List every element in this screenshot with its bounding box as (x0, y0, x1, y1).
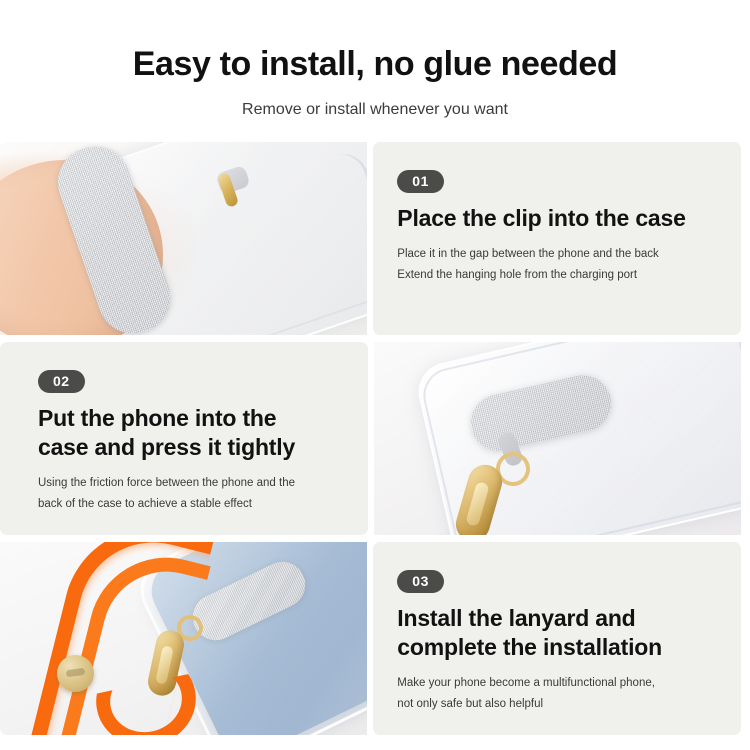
step-1-text-panel: 01 Place the clip into the case Place it… (373, 142, 741, 335)
step-1-description: Place it in the gap between the phone an… (397, 244, 719, 287)
step-2-photo (374, 342, 741, 535)
step-2-title-line-1: Put the phone into the (38, 404, 346, 433)
photo-hand-holding-clip (0, 142, 367, 335)
step-2-text-panel: 02 Put the phone into the case and press… (0, 342, 368, 535)
header: Easy to install, no glue needed Remove o… (0, 0, 750, 120)
step-1-photo (0, 142, 367, 335)
step-row-1: 01 Place the clip into the case Place it… (0, 142, 741, 335)
step-row-3: 03 Install the lanyard and complete the … (0, 542, 741, 735)
infographic-page: Easy to install, no glue needed Remove o… (0, 0, 750, 750)
page-title: Easy to install, no glue needed (0, 46, 750, 83)
step-2-title-line-2: case and press it tightly (38, 433, 346, 462)
step-2-desc-line-1: Using the friction force between the pho… (38, 473, 346, 494)
step-row-2: 02 Put the phone into the case and press… (0, 342, 741, 535)
step-2-badge: 02 (38, 370, 85, 393)
step-3-title-line-2: complete the installation (397, 633, 719, 662)
step-3-title-line-1: Install the lanyard and (397, 604, 719, 633)
step-3-badge: 03 (397, 570, 444, 593)
steps-collage: 01 Place the clip into the case Place it… (0, 142, 750, 735)
step-2-desc-line-2: back of the case to achieve a stable eff… (38, 494, 346, 515)
step-1-desc-line-2: Extend the hanging hole from the chargin… (397, 265, 719, 286)
step-2-description: Using the friction force between the pho… (38, 473, 346, 516)
photo-lanyard-on-phone (0, 542, 367, 735)
step-3-desc-line-1: Make your phone become a multifunctional… (397, 673, 719, 694)
step-2-title: Put the phone into the case and press it… (38, 404, 346, 462)
step-1-desc-line-1: Place it in the gap between the phone an… (397, 244, 719, 265)
step-3-text-panel: 03 Install the lanyard and complete the … (373, 542, 741, 735)
step-3-desc-line-2: not only safe but also helpful (397, 694, 719, 715)
step-3-photo (0, 542, 367, 735)
page-subtitle: Remove or install whenever you want (0, 100, 750, 119)
step-1-badge: 01 (397, 170, 444, 193)
photo-case-with-hook (374, 342, 741, 535)
step-3-description: Make your phone become a multifunctional… (397, 673, 719, 716)
step-3-title: Install the lanyard and complete the ins… (397, 604, 719, 662)
step-1-title: Place the clip into the case (397, 204, 719, 233)
